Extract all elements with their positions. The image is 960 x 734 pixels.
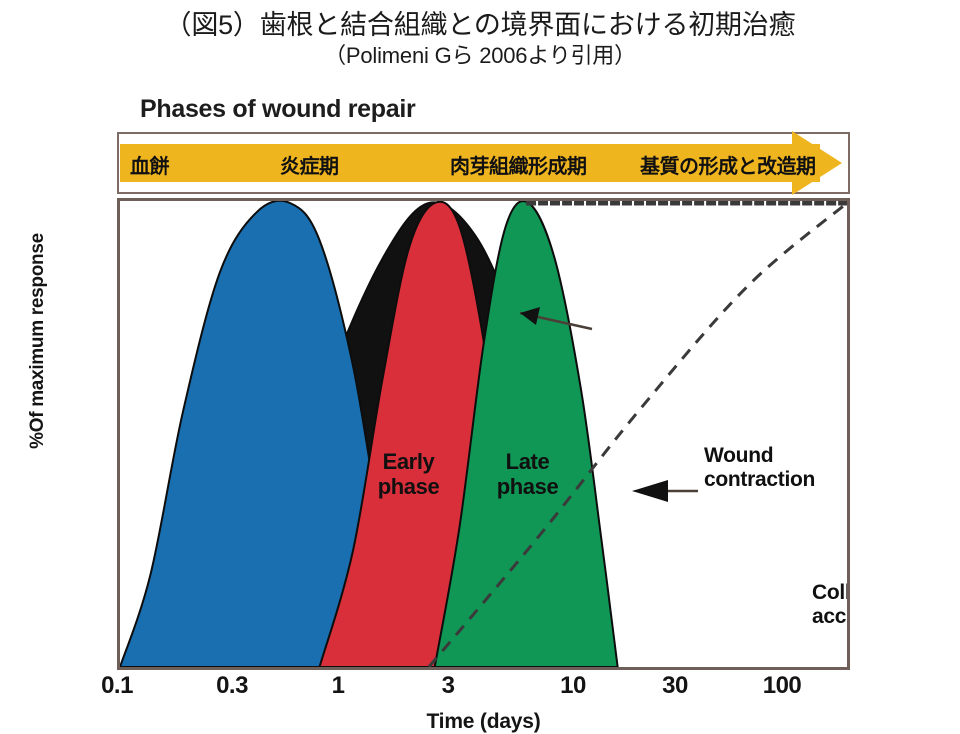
phase-label-blood-clot: 血餅 [130,150,169,179]
phase-label-granulation: 肉芽組織形成期 [450,150,587,179]
chart-svg [120,201,847,667]
x-tick-label: 1 [332,672,345,700]
annotation-wound-contraction: Wound contraction [704,444,815,492]
annotation-collagen-accumulation: Collagen accumulation [812,581,850,629]
x-tick-label: 0.3 [216,672,248,700]
x-axis-label: Time (days) [117,710,850,734]
chart-heading: Phases of wound repair [140,95,415,124]
arrowhead-collagen-icon [632,480,668,502]
phase-arrow-band: 血餅 炎症期 肉芽組織形成期 基質の形成と改造期 [120,144,838,182]
x-tick-label: 10 [560,672,586,700]
x-tick-label: 30 [662,672,688,700]
figure-title-block: （図5）歯根と結合組織との境界面における初期治癒 （Polimeni Gら 20… [0,8,960,70]
figure-container: Phases of wound repair 血餅 炎症期 肉芽組織形成期 基質… [0,80,960,667]
x-tick-label: 100 [763,672,802,700]
page-subtitle: （Polimeni Gら 2006より引用） [0,42,960,70]
phase-label-inflammation: 炎症期 [280,150,339,179]
y-axis-label: %Of maximum response [27,211,49,471]
phase-label-matrix-remodeling: 基質の形成と改造期 [640,150,816,179]
page-title: （図5）歯根と結合組織との境界面における初期治癒 [0,8,960,42]
series-label-early-phase: Early phase [356,449,461,499]
series-label-late-phase: Late phase [480,449,575,499]
x-axis-tick-labels: 0.10.3131030100 [0,672,960,706]
x-tick-label: 3 [442,672,455,700]
x-tick-label: 0.1 [101,672,133,700]
plot-area: Early phase Late phase Wound contraction… [117,198,850,670]
